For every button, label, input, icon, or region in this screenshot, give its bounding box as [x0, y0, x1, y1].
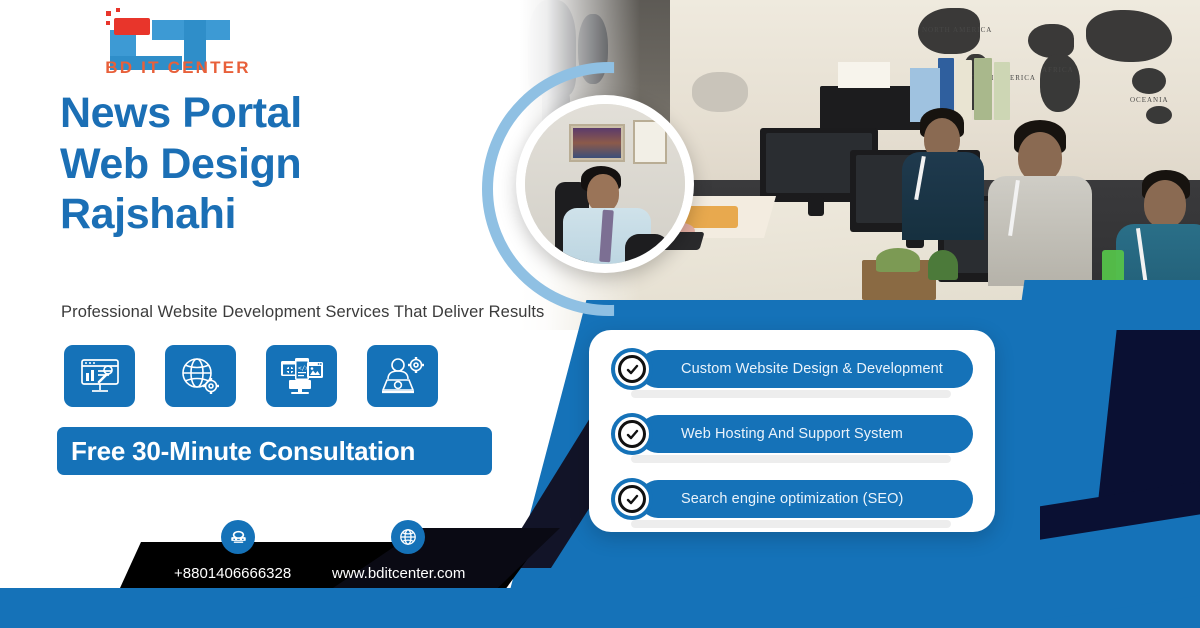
page-title: News Portal Web Design Rajshahi [60, 88, 490, 240]
logo-pixel-dot-icon [116, 8, 120, 12]
feature-item[interactable]: Custom Website Design & Development [611, 350, 973, 388]
map-label-north-america: NORTH AMERICA [922, 26, 992, 34]
check-circle-icon [611, 413, 653, 455]
analytics-monitor-wrench-icon[interactable] [64, 345, 135, 407]
service-icon-row: </> [64, 345, 438, 407]
marketing-banner: NORTH AMERICA SOUTH AMERICA AFRICA OCEAN… [0, 0, 1200, 628]
bottom-bar [0, 588, 1000, 628]
feature-divider-shadow [631, 455, 951, 463]
headline-line-2: Web Design [60, 139, 490, 190]
globe-gear-icon[interactable] [165, 345, 236, 407]
logo-pixel-dot-icon [106, 11, 111, 16]
map-label-oceania: OCEANIA [1130, 96, 1169, 104]
map-label-africa: AFRICA [1042, 66, 1074, 74]
feature-item[interactable]: Web Hosting And Support System [611, 415, 973, 453]
brand-logo[interactable]: BD IT CENTER [88, 6, 268, 74]
phone-number[interactable]: +8801406666328 [174, 565, 291, 582]
logo-pixel-dot-icon [106, 21, 110, 25]
subtitle: Professional Website Development Service… [61, 303, 581, 322]
web-design-screens-icon[interactable]: </> [266, 345, 337, 407]
telephone-icon[interactable] [221, 520, 255, 554]
feature-divider-shadow [631, 520, 951, 528]
brand-name: BD IT CENTER [88, 58, 268, 78]
website-url[interactable]: www.bditcenter.com [332, 565, 465, 582]
logo-red-block-icon [114, 18, 150, 35]
feature-label: Web Hosting And Support System [681, 426, 903, 442]
feature-divider-shadow [631, 390, 951, 398]
cta-label: Free 30-Minute Consultation [71, 436, 415, 467]
consultation-cta-button[interactable]: Free 30-Minute Consultation [57, 427, 492, 475]
developer-laptop-gear-icon[interactable] [367, 345, 438, 407]
headline-line-1: News Portal [60, 88, 490, 139]
feature-item[interactable]: Search engine optimization (SEO) [611, 480, 973, 518]
headline-line-3: Rajshahi [60, 189, 490, 240]
feature-label: Custom Website Design & Development [681, 361, 943, 377]
staff-portrait [516, 95, 694, 273]
globe-icon[interactable] [391, 520, 425, 554]
feature-list-card: Custom Website Design & Development Web … [589, 330, 995, 532]
check-circle-icon [611, 348, 653, 390]
feature-label: Search engine optimization (SEO) [681, 491, 903, 507]
check-circle-icon [611, 478, 653, 520]
